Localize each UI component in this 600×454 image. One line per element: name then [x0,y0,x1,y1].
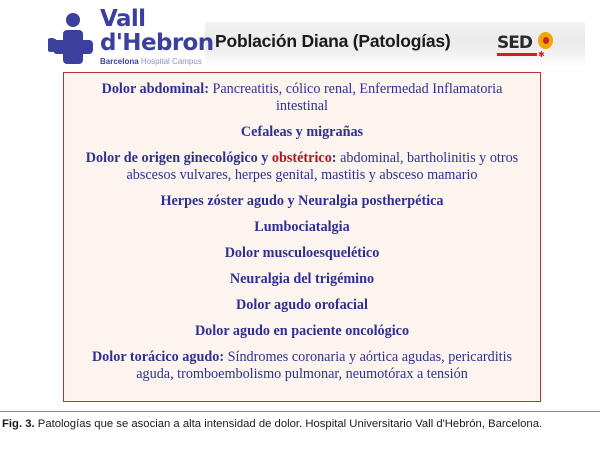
logo-line-1: Vall [100,8,220,31]
sed-logo: SED ✱ [497,32,559,62]
caption-divider [0,411,600,412]
slide-title: Población Diana (Patologías) [215,31,505,52]
list-item: Neuralgia del trigémino [74,271,530,288]
entry-lead: Herpes zóster agudo y Neuralgia postherp… [160,193,443,209]
entry-lead: Lumbociatalgia [254,219,349,235]
cross-person-icon [48,12,98,64]
pathologies-box: Dolor abdominal: Pancreatitis, cólico re… [63,72,541,402]
figure-label: Fig. 3. [2,418,35,430]
entry-lead: Cefaleas y migrañas [241,124,363,140]
logo-tagline: Barcelona Hospital Campus [100,57,220,66]
sed-wordmark: SED [497,35,532,52]
list-item: Herpes zóster agudo y Neuralgia postherp… [74,193,530,210]
list-item: Dolor agudo en paciente oncológico [74,323,530,340]
entry-lead: Dolor abdominal: [102,81,209,97]
vall-hebron-logo: Vall d'Hebron Barcelona Hospital Campus [48,6,220,68]
entry-lead: Dolor de origen ginecológico y [86,150,272,166]
slide-header: Población Diana (Patologías) Vall d'Hebr… [0,0,600,72]
sed-target-icon [538,32,553,49]
figure-caption: Fig. 3. Patologías que se asocian a alta… [2,417,598,432]
logo-tagline-rest: Hospital Campus [139,57,202,66]
entry-lead: Dolor musculoesquelético [225,245,380,261]
list-item: Dolor de origen ginecológico y obstétric… [74,150,530,184]
list-item: Lumbociatalgia [74,219,530,236]
logo-line-2: d'Hebron [100,32,220,55]
entry-lead: Dolor torácico agudo: [92,349,224,365]
entry-lead: Dolor agudo orofacial [236,297,368,313]
list-item: Dolor torácico agudo: Síndromes coronari… [74,349,530,383]
figure-container: Población Diana (Patologías) Vall d'Hebr… [0,0,600,410]
list-item: Dolor abdominal: Pancreatitis, cólico re… [74,81,530,115]
entry-lead: Neuralgia del trigémino [230,271,374,287]
list-item: Dolor agudo orofacial [74,297,530,314]
entry-emphasis: obstétrico [272,150,332,166]
list-item: Dolor musculoesquelético [74,245,530,262]
sed-star-icon: ✱ [538,51,545,59]
sed-target-center [543,37,549,44]
entry-rest: Pancreatitis, cólico renal, Enfermedad I… [209,81,502,114]
entry-lead: Dolor agudo en paciente oncológico [195,323,409,339]
list-item: Cefaleas y migrañas [74,124,530,141]
sed-underline-bar [497,53,537,56]
figure-caption-text: Patologías que se asocian a alta intensi… [35,418,542,430]
vall-hebron-wordmark: Vall d'Hebron Barcelona Hospital Campus [100,8,220,66]
logo-tagline-bold: Barcelona [100,57,139,66]
